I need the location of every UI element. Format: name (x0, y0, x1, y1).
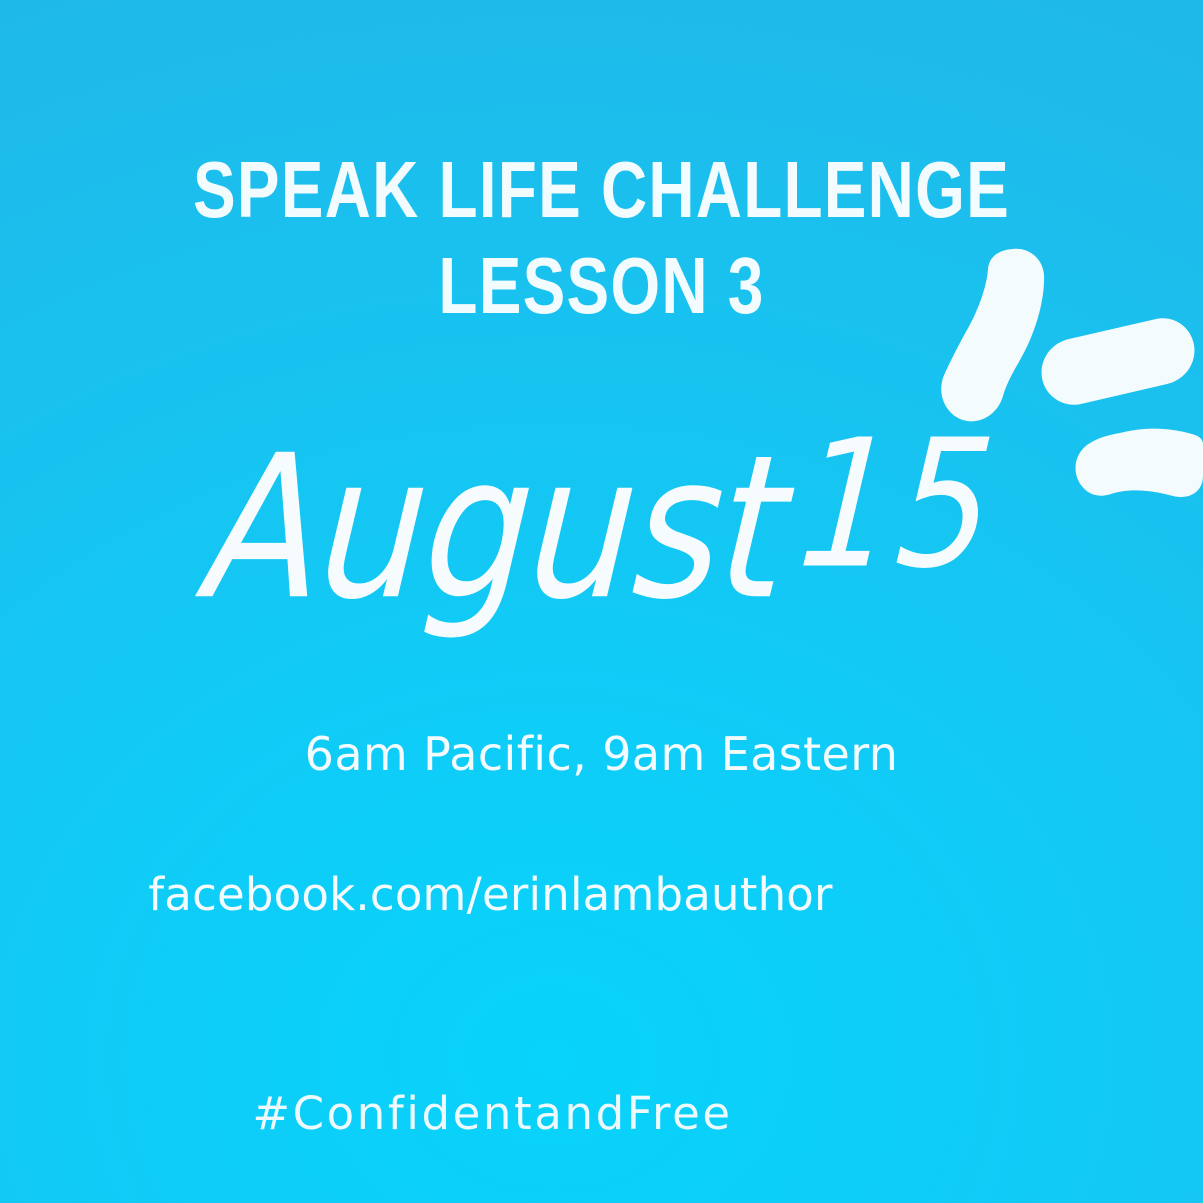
date-day: 15 (793, 403, 1002, 608)
headline-line-2: LESSON 3 (120, 246, 1082, 326)
facebook-url[interactable]: facebook.com/erinlambauthor (0, 868, 1203, 921)
event-time: 6am Pacific, 9am Eastern (0, 727, 1203, 781)
headline-block: SPEAK LIFE CHALLENGE LESSON 3 (0, 150, 1203, 326)
headline-line-1: SPEAK LIFE CHALLENGE (120, 150, 1082, 230)
date-month: August (201, 412, 793, 643)
burst-stroke-2 (1042, 318, 1195, 405)
poster-canvas: SPEAK LIFE CHALLENGE LESSON 3 August15 6… (0, 0, 1203, 1203)
date-script: August15 (201, 413, 1001, 632)
date-block: August15 (0, 430, 1203, 615)
hashtag[interactable]: #ConfidentandFree (0, 1087, 1203, 1140)
